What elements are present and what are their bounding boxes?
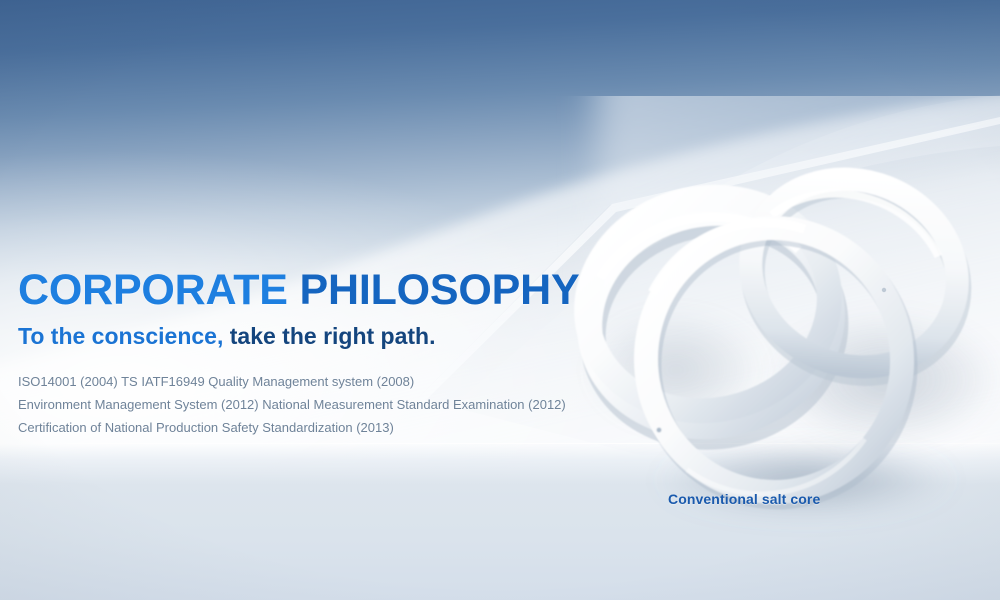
subtitle-part-two: take the right path. bbox=[230, 323, 436, 349]
certification-list: ISO14001 (2004) TS IATF16949 Quality Man… bbox=[18, 370, 638, 439]
headline-word-philosophy: PHILOSOPHY bbox=[300, 266, 580, 314]
product-caption: Conventional salt core bbox=[668, 491, 820, 507]
corporate-philosophy-banner: CORPORATE PHILOSOPHY To the conscience, … bbox=[0, 0, 1000, 600]
page-subtitle: To the conscience, take the right path. bbox=[18, 322, 638, 350]
certification-item: Certification of National Production Saf… bbox=[18, 416, 638, 439]
banner-copy-block: CORPORATE PHILOSOPHY To the conscience, … bbox=[18, 266, 638, 455]
certification-item: Environment Management System (2012) Nat… bbox=[18, 393, 638, 416]
subtitle-part-one: To the conscience, bbox=[18, 323, 230, 349]
page-title: CORPORATE PHILOSOPHY bbox=[18, 266, 638, 314]
headline-word-corporate: CORPORATE bbox=[18, 266, 288, 314]
certification-item: ISO14001 (2004) TS IATF16949 Quality Man… bbox=[18, 370, 638, 393]
